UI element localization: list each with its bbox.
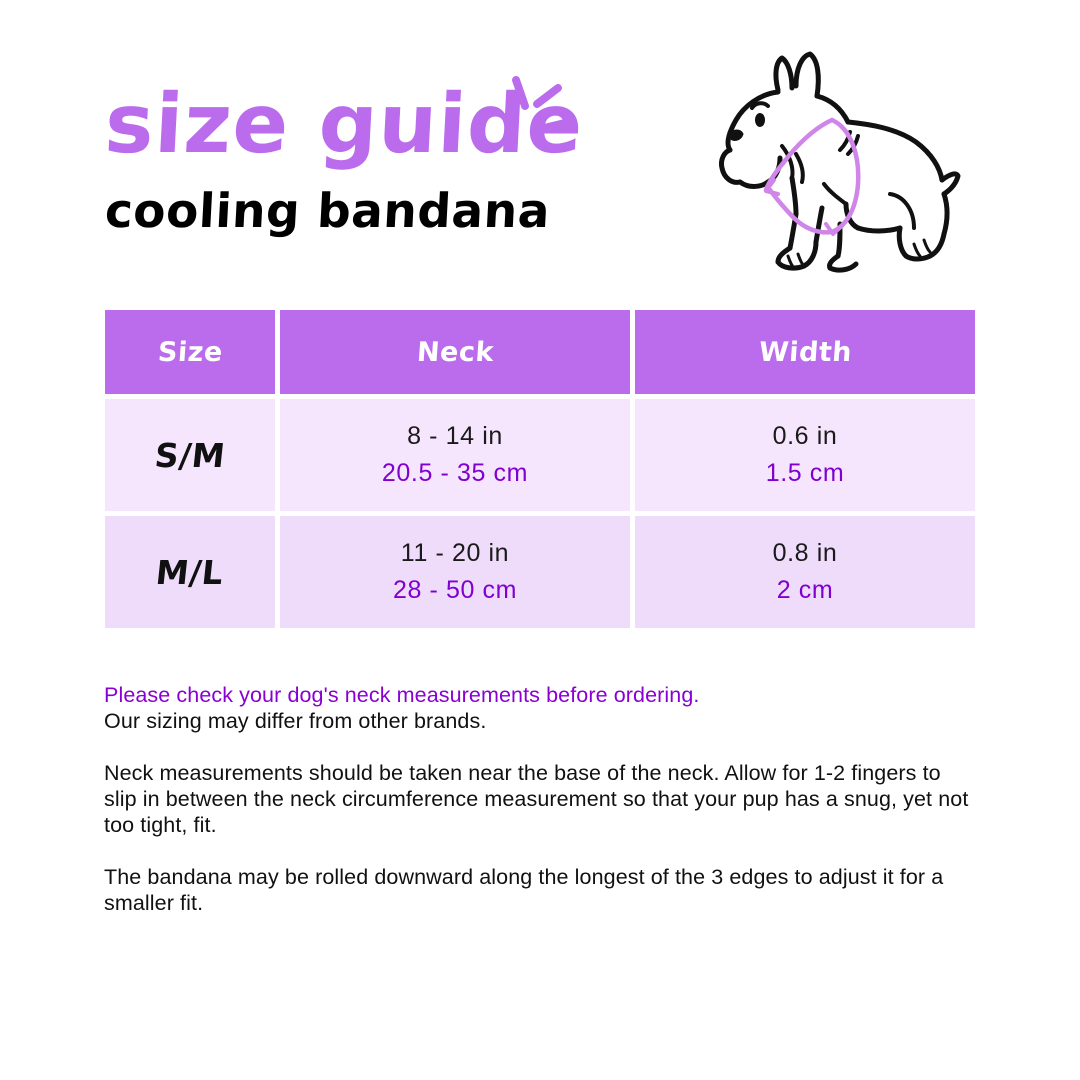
neck-cm-value: 20.5 - 35 cm bbox=[382, 459, 528, 488]
note-secondary-line: Our sizing may differ from other brands. bbox=[104, 708, 984, 734]
title-row: size guide bbox=[105, 86, 583, 164]
column-header-width: Width bbox=[757, 337, 852, 368]
table-header-cell-size: Size bbox=[105, 310, 275, 394]
column-header-size: Size bbox=[157, 337, 224, 368]
note-paragraph-rolling: The bandana may be rolled downward along… bbox=[104, 864, 974, 916]
neck-measurement-loop bbox=[766, 120, 858, 234]
table-header-cell-neck: Neck bbox=[280, 310, 630, 394]
french-bulldog-line-art bbox=[700, 38, 980, 290]
column-header-neck: Neck bbox=[415, 337, 494, 368]
cell-size-sm: S/M bbox=[105, 399, 275, 511]
size-label: M/L bbox=[154, 553, 226, 592]
cell-width-sm: 0.6 in 1.5 cm bbox=[635, 399, 975, 511]
table-row: M/L 11 - 20 in 28 - 50 cm 0.8 in 2 cm bbox=[105, 516, 975, 628]
note-accent-line: Please check your dog's neck measurement… bbox=[104, 682, 984, 708]
page-subtitle: cooling bandana bbox=[104, 188, 666, 235]
notes-block: Please check your dog's neck measurement… bbox=[104, 682, 984, 916]
width-cm-value: 1.5 cm bbox=[766, 459, 845, 488]
cell-width-ml: 0.8 in 2 cm bbox=[635, 516, 975, 628]
width-inches-value: 0.8 in bbox=[773, 539, 838, 568]
note-paragraph-neck-measurement: Neck measurements should be taken near t… bbox=[104, 760, 974, 838]
page-title: size guide bbox=[103, 86, 585, 164]
cell-neck-ml: 11 - 20 in 28 - 50 cm bbox=[280, 516, 630, 628]
table-header-cell-width: Width bbox=[635, 310, 975, 394]
cell-size-ml: M/L bbox=[105, 516, 275, 628]
header-block: size guide cooling bandana bbox=[105, 86, 665, 235]
table-header-row: Size Neck Width bbox=[105, 310, 975, 394]
neck-inches-value: 11 - 20 in bbox=[401, 539, 509, 568]
table-row: S/M 8 - 14 in 20.5 - 35 cm 0.6 in 1.5 cm bbox=[105, 399, 975, 511]
width-inches-value: 0.6 in bbox=[773, 422, 838, 451]
size-guide-page: size guide cooling bandana bbox=[0, 0, 1080, 1080]
neck-inches-value: 8 - 14 in bbox=[407, 422, 503, 451]
size-label: S/M bbox=[153, 436, 227, 475]
width-cm-value: 2 cm bbox=[777, 576, 834, 605]
neck-cm-value: 28 - 50 cm bbox=[393, 576, 517, 605]
size-table: Size Neck Width S/M 8 - 14 in 20.5 - 35 … bbox=[105, 310, 975, 628]
cell-neck-sm: 8 - 14 in 20.5 - 35 cm bbox=[280, 399, 630, 511]
